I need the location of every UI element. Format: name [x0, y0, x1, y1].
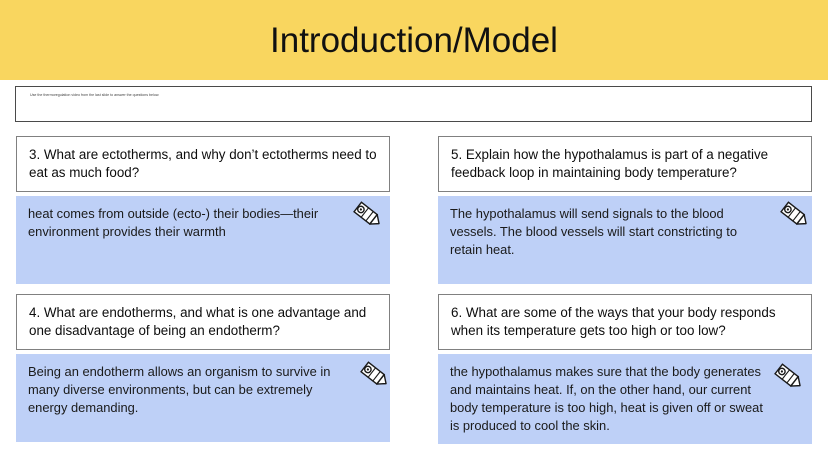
question-box-q6: 6. What are some of the ways that your b… [438, 294, 812, 350]
pencil-icon [358, 360, 392, 390]
qa-card-q6: 6. What are some of the ways that your b… [438, 294, 812, 444]
answer-text-q4: Being an endotherm allows an organism to… [28, 363, 350, 416]
instruction-text: Use the thermoregulation video from the … [30, 93, 159, 98]
qa-grid: 3. What are ectotherms, and why don’t ec… [0, 136, 828, 466]
question-text-q6: 6. What are some of the ways that your b… [451, 304, 800, 340]
answer-box-q3[interactable]: heat comes from outside (ecto-) their bo… [16, 196, 390, 284]
instruction-box: Use the thermoregulation video from the … [15, 86, 812, 122]
question-box-q5: 5. Explain how the hypothalamus is part … [438, 136, 812, 192]
answer-box-q5[interactable]: The hypothalamus will send signals to th… [438, 196, 812, 284]
qa-card-q5: 5. Explain how the hypothalamus is part … [438, 136, 812, 284]
slide-canvas: Introduction/Model Use the thermoregulat… [0, 0, 828, 466]
answer-text-q5: The hypothalamus will send signals to th… [450, 205, 772, 258]
qa-card-q4: 4. What are endotherms, and what is one … [16, 294, 390, 442]
pencil-icon [772, 362, 806, 392]
pencil-icon [778, 200, 812, 230]
title-banner: Introduction/Model [0, 0, 828, 80]
answer-box-q4[interactable]: Being an endotherm allows an organism to… [16, 354, 390, 442]
answer-text-q3: heat comes from outside (ecto-) their bo… [28, 205, 350, 241]
question-box-q3: 3. What are ectotherms, and why don’t ec… [16, 136, 390, 192]
question-box-q4: 4. What are endotherms, and what is one … [16, 294, 390, 350]
question-text-q4: 4. What are endotherms, and what is one … [29, 304, 378, 340]
question-text-q3: 3. What are ectotherms, and why don’t ec… [29, 146, 378, 182]
answer-box-q6[interactable]: the hypothalamus makes sure that the bod… [438, 354, 812, 444]
qa-card-q3: 3. What are ectotherms, and why don’t ec… [16, 136, 390, 284]
page-title: Introduction/Model [270, 23, 558, 58]
question-text-q5: 5. Explain how the hypothalamus is part … [451, 146, 800, 182]
pencil-icon [351, 200, 385, 230]
answer-text-q6: the hypothalamus makes sure that the bod… [450, 363, 772, 434]
